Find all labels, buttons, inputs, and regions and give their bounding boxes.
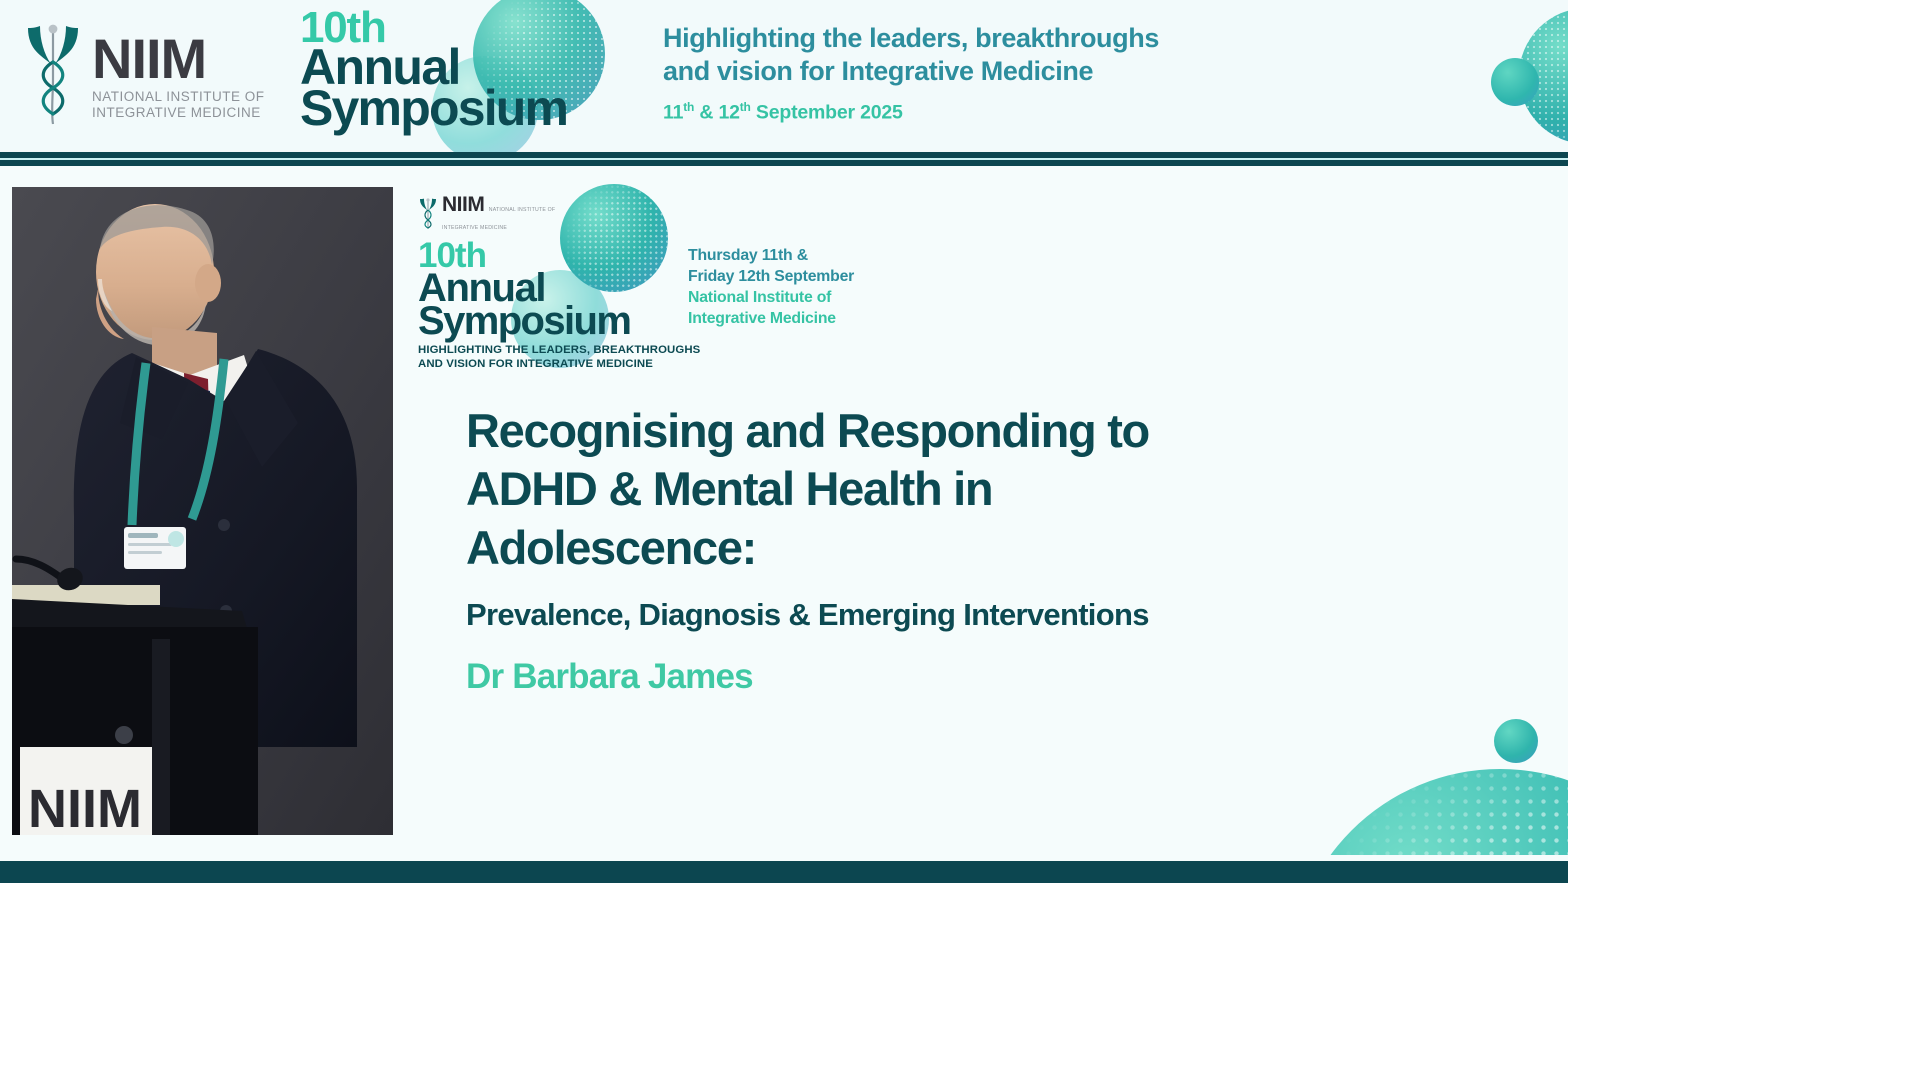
slide-title-line3: Adolescence:	[466, 519, 1426, 577]
banner-tagline-line2: and vision for Integrative Medicine	[663, 55, 1159, 88]
slide-title-line2: ADHD & Mental Health in	[466, 460, 1426, 518]
banner-decorative-sphere-right-small	[1491, 58, 1539, 106]
slide-niim-logo: NIIM NATIONAL INSTITUTE OF INTEGRATIVE M…	[418, 194, 700, 234]
svg-text:NIIM: NIIM	[28, 779, 142, 835]
banner-tagline: Highlighting the leaders, breakthroughs …	[663, 22, 1159, 125]
slide-subtitle: Prevalence, Diagnosis & Emerging Interve…	[466, 596, 1426, 633]
slide-bottom-bar	[0, 861, 1568, 883]
slide-decorative-sphere-large	[1290, 769, 1568, 855]
banner-divider	[0, 152, 1568, 166]
slide-niim-subtitle-line2: INTEGRATIVE MEDICINE	[442, 225, 507, 231]
slide-decorative-sphere-small	[1494, 719, 1538, 763]
slide-canvas: NIIM	[0, 166, 1568, 855]
event-banner: NIIM NATIONAL INSTITUTE OF INTEGRATIVE M…	[0, 0, 1568, 152]
banner-tagline-line1: Highlighting the leaders, breakthroughs	[663, 22, 1159, 55]
slide-venue-line2: Integrative Medicine	[688, 308, 854, 329]
slide-niim-subtitle-line1: NATIONAL INSTITUTE OF	[489, 207, 555, 213]
slide-logo-tagline-line2: AND VISION FOR INTEGRATIVE MEDICINE	[418, 358, 700, 371]
slide-symposium-lockup: NIIM NATIONAL INSTITUTE OF INTEGRATIVE M…	[418, 194, 700, 371]
slide-title-line1: Recognising and Responding to	[466, 402, 1426, 460]
slide-symposium: Symposium	[418, 303, 700, 339]
slide-title-block: Recognising and Responding to ADHD & Men…	[466, 402, 1426, 698]
caduceus-icon	[22, 20, 84, 130]
banner-event-date: 11th & 12th September 2025	[663, 100, 1159, 125]
slide-venue-line1: National Institute of	[688, 287, 854, 308]
banner-symposium: Symposium	[300, 86, 567, 131]
presentation-slide-page: NIIM NATIONAL INSTITUTE OF INTEGRATIVE M…	[0, 0, 1568, 883]
niim-subtitle-line2: INTEGRATIVE MEDICINE	[92, 105, 261, 120]
niim-logo: NIIM NATIONAL INSTITUTE OF INTEGRATIVE M…	[22, 20, 265, 130]
slide-niim-acronym: NIIM	[442, 193, 484, 216]
slide-date-line1: Thursday 11th &	[688, 245, 854, 266]
speaker-photo: NIIM	[12, 187, 393, 835]
banner-symposium-lockup: 10th Annual Symposium	[300, 8, 567, 131]
slide-date-line2: Friday 12th September	[688, 266, 854, 287]
slide-logo-tagline-line1: HIGHLIGHTING THE LEADERS, BREAKTHROUGHS	[418, 344, 700, 357]
slide-caduceus-icon	[418, 197, 438, 231]
divider-rule-bottom	[0, 160, 1568, 166]
niim-acronym: NIIM	[92, 33, 265, 85]
slide-date-block: Thursday 11th & Friday 12th September Na…	[688, 245, 854, 329]
niim-subtitle-line1: NATIONAL INSTITUTE OF	[92, 89, 265, 104]
slide-speaker-name: Dr Barbara James	[466, 656, 1426, 698]
